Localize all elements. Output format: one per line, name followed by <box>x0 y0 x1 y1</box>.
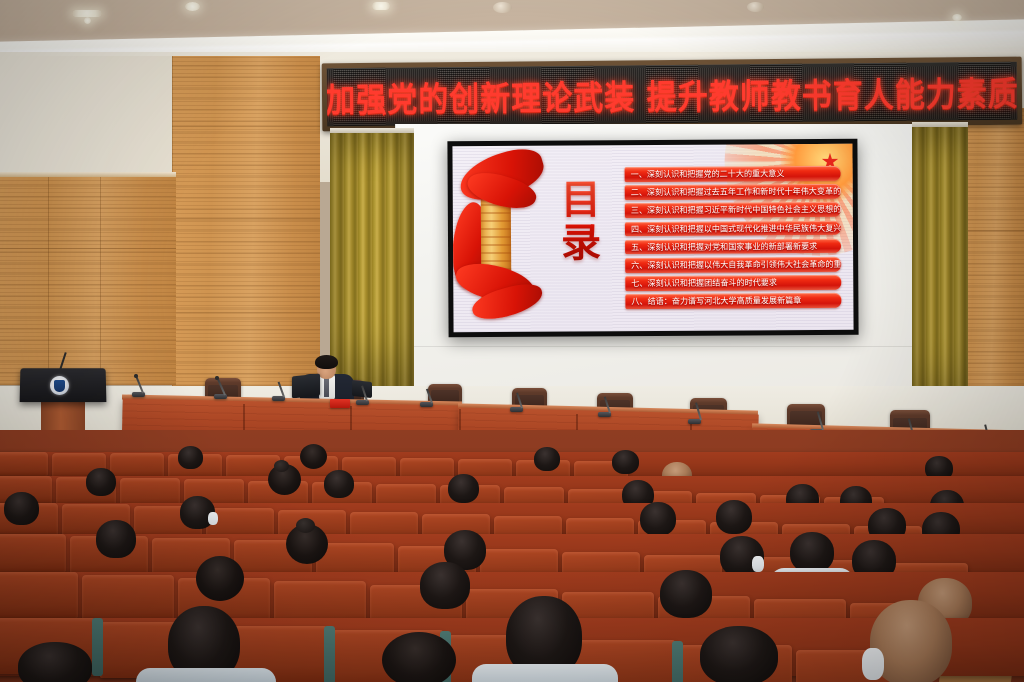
audience-head <box>96 520 136 558</box>
seat[interactable] <box>120 478 180 506</box>
panel-seam <box>172 126 320 127</box>
led-screen: 加强党的创新理论武装 提升教师教书育人能力素质 <box>327 62 1018 127</box>
ceiling-spotlight <box>72 10 102 17</box>
audience-head-foreground <box>18 642 92 682</box>
audience-head <box>300 444 327 469</box>
audience-shoulders <box>136 668 276 682</box>
audience-head <box>448 474 479 503</box>
ceiling-spotlight <box>84 17 91 24</box>
seat[interactable] <box>110 453 164 477</box>
led-banner-text: 加强党的创新理论武装 提升教师教书育人能力素质 <box>327 66 1018 122</box>
speaker-tie <box>324 377 329 397</box>
audience-head-foreground <box>700 626 778 682</box>
audience-shoulders <box>472 664 618 682</box>
audience-head <box>86 468 116 496</box>
toc-item[interactable]: 二、深刻认识和把握过去五年工作和新时代十年伟大变革的重大意义 <box>625 184 841 200</box>
led-banner: 加强党的创新理论武装 提升教师教书育人能力素质 <box>322 57 1023 132</box>
toc-item-text: 二、深刻认识和把握过去五年工作和新时代十年伟大变革的重大意义 <box>625 184 841 200</box>
toc-item[interactable]: 三、深刻认识和把握习近平新时代中国特色社会主义思想的世界观和方法论 <box>625 202 841 218</box>
wood-wall-panel-left <box>172 56 320 386</box>
audience-head <box>534 447 560 471</box>
wainscot-left <box>0 177 176 385</box>
face-mask <box>208 512 218 525</box>
audience-head <box>660 570 712 618</box>
toc-item[interactable]: 一、深刻认识和把握党的二十大的重大意义 <box>625 166 841 182</box>
speaker-nameplate <box>330 399 350 408</box>
audience-head <box>178 446 203 469</box>
toc-item[interactable]: 六、深刻认识和把握以伟大自我革命引领伟大社会革命的重要要求 <box>625 257 841 273</box>
seat[interactable] <box>0 534 66 572</box>
audience-head <box>420 562 470 609</box>
curtain-right[interactable] <box>912 127 968 409</box>
toc-item-text: 三、深刻认识和把握习近平新时代中国特色社会主义思想的世界观和方法论 <box>625 202 841 218</box>
toc-item-text: 一、深刻认识和把握党的二十大的重大意义 <box>625 166 785 182</box>
audience-head <box>640 502 676 536</box>
ribbon-artwork <box>452 146 571 333</box>
seat-frame <box>92 618 103 676</box>
toc-item-text: 七、深刻认识和把握团结奋斗的时代要求 <box>625 275 777 291</box>
audience-head <box>790 532 834 573</box>
audience-head <box>716 500 752 534</box>
upper-wall-left <box>0 56 180 186</box>
toc-item[interactable]: 七、深刻认识和把握团结奋斗的时代要求 <box>625 275 841 291</box>
toc-item-text: 四、深刻认识和把握以中国式现代化推进中华民族伟大复兴的使命任务 <box>625 220 841 236</box>
toc-item-text: 五、深刻认识和把握对党和国家事业的新部署新要求 <box>625 239 817 255</box>
face-mask <box>752 556 764 572</box>
audience-head-foreground <box>382 632 456 682</box>
seat[interactable] <box>0 452 48 476</box>
audience-hair-bun <box>274 460 289 472</box>
toc-item[interactable]: 四、深刻认识和把握以中国式现代化推进中华民族伟大复兴的使命任务 <box>625 220 841 236</box>
panel-seam <box>48 177 49 385</box>
slide-heading: 目录 <box>561 179 620 265</box>
panel-seam <box>0 248 176 249</box>
face-mask <box>862 648 884 680</box>
ceiling-dome-light <box>747 2 764 12</box>
audience-head <box>196 556 244 601</box>
ceiling-spotlight <box>185 2 200 11</box>
audience-head <box>612 450 639 474</box>
ceiling-spotlight <box>372 2 390 10</box>
audience-head <box>4 492 39 525</box>
toc-item-text: 六、深刻认识和把握以伟大自我革命引领伟大社会革命的重要要求 <box>625 257 841 273</box>
seat[interactable] <box>82 575 174 621</box>
panel-seam <box>172 218 320 219</box>
microphone-head <box>215 376 219 380</box>
seat-frame <box>672 641 683 682</box>
toc-item-text: 八、结语：奋力谱写河北大学高质量发展新篇章 <box>625 293 801 309</box>
toc-item[interactable]: 八、结语：奋力谱写河北大学高质量发展新篇章 <box>625 293 841 309</box>
ceiling-spotlight <box>952 14 962 21</box>
ceiling-dome-light <box>493 2 512 13</box>
auditorium-scene: 加强党的创新理论武装 提升教师教书育人能力素质 目录 一、深刻认识 <box>0 0 1024 682</box>
projection-wall-seam <box>395 346 915 347</box>
audience-hair-bun <box>296 518 315 533</box>
slide-content: 目录 一、深刻认识和把握党的二十大的重大意义 二、深刻认识和把握过去五年工作和新… <box>452 144 853 332</box>
speaker-laptop[interactable] <box>292 374 320 399</box>
seat[interactable] <box>0 572 78 618</box>
seat-frame <box>324 626 335 682</box>
slide-toc-list: 一、深刻认识和把握党的二十大的重大意义 二、深刻认识和把握过去五年工作和新时代十… <box>625 166 842 313</box>
curtain-left[interactable] <box>330 133 414 389</box>
panel-seam <box>100 177 101 385</box>
presentation-screen[interactable]: 目录 一、深刻认识和把握党的二十大的重大意义 二、深刻认识和把握过去五年工作和新… <box>447 139 858 338</box>
toc-item[interactable]: 五、深刻认识和把握对党和国家事业的新部署新要求 <box>625 239 841 255</box>
university-crest-icon <box>50 376 69 395</box>
panel-seam <box>172 312 320 313</box>
audience-head <box>324 470 354 498</box>
speaker-hair <box>315 355 338 369</box>
microphone-head <box>134 374 138 378</box>
